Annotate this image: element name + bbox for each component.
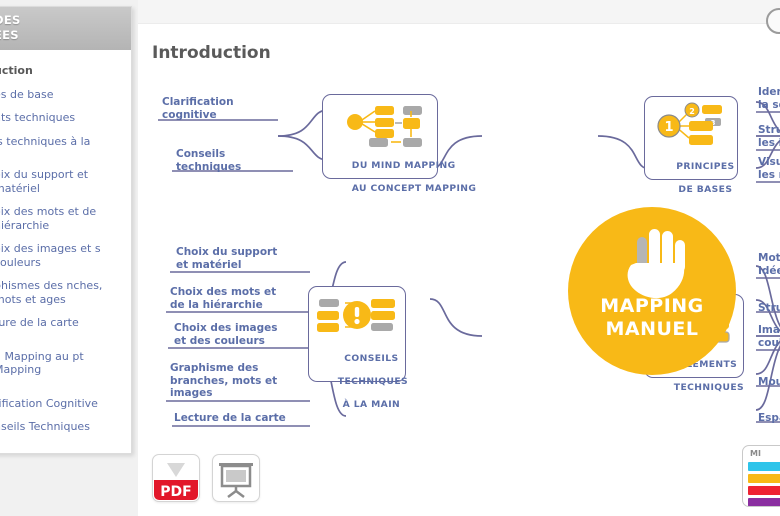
leaf-image-couleur[interactable]: Image couleur [758,324,780,349]
sidebar-panel: DES ÉES uction es de base nts techniques… [0,6,132,454]
leaf-graphisme[interactable]: Graphisme des branches, mots et images [170,362,277,400]
sidebar-item-2[interactable]: nts techniques [0,106,131,130]
bottom-toolbar: PDF [152,454,260,502]
color-bar-3 [748,486,780,495]
sidebar-item-8[interactable]: ture de la carte [0,311,131,335]
sidebar-divider-3 [0,382,131,392]
leaf-conseils-techniques[interactable]: Conseils techniques [176,148,241,173]
sidebar-item-6[interactable]: oix des images et s couleurs [0,237,131,274]
leaf-structure[interactable]: Structu [758,302,780,315]
node-title-conseils-techniques: CONSEILS TECHNIQUES À LA MAIN [309,341,405,422]
color-bar-4 [748,498,780,507]
presentation-icon [213,455,259,501]
leaf-choix-support[interactable]: Choix du support et matériel [176,246,277,271]
sidebar-item-7[interactable]: phismes des nches, mots et ages [0,274,131,311]
leaf-identifier-source[interactable]: Identifie la source [758,86,780,111]
sidebar-item-9[interactable]: d Mapping au pt Mapping [0,345,131,382]
svg-text:1: 1 [664,120,673,135]
numbered-map-icon: 1 2 3 [645,102,737,150]
main-content: Introduction [138,0,780,516]
leaf-mouvement[interactable]: Mouver [758,376,780,389]
sidebar-item-3[interactable]: ls techniques à la [0,130,131,154]
sidebar-item-introduction[interactable]: uction [0,59,131,83]
center-node-mapping-manuel[interactable]: MAPPING MANUEL [568,207,736,375]
page-title: Introduction [152,43,271,63]
concept-map-icon [323,99,437,149]
pdf-icon: PDF [153,455,199,501]
sidebar-item-1[interactable]: es de base [0,83,131,107]
sidebar-divider-2 [0,335,131,345]
sidebar-item-10[interactable]: rification Cognitive [0,392,131,416]
leaf-mots-cles[interactable]: Mots-cl Idées-c [758,252,780,277]
center-node-title: MAPPING MANUEL [568,295,736,341]
leaf-clarification-cognitive[interactable]: Clarification cognitive [162,96,234,121]
sidebar-header: DES ÉES [0,7,131,50]
node-title-du-mind-mapping: DU MIND MAPPING AU CONCEPT MAPPING [323,148,437,206]
sidebar-list: uction es de base nts techniques ls tech… [0,50,131,453]
leaf-espace[interactable]: Espace [758,412,780,425]
leaf-choix-images[interactable]: Choix des images et des couleurs [174,322,277,347]
mindmap-canvas: Clarification cognitive Conseils techniq… [138,74,780,516]
sidebar: DES ÉES uction es de base nts techniques… [0,0,138,516]
leaf-visualiser-resultats[interactable]: Visualise les résul [758,156,780,181]
right-tool-label: MI [743,446,780,459]
node-principes-de-bases[interactable]: 1 2 3 PRINCIPES DE BASES [644,96,738,180]
svg-text:PDF: PDF [160,484,191,500]
node-du-mind-mapping[interactable]: DU MIND MAPPING AU CONCEPT MAPPING [322,94,438,179]
sidebar-header-line1: DES [0,13,123,28]
sidebar-item-5[interactable]: oix des mots et de hiérarchie [0,200,131,237]
svg-text:2: 2 [689,107,695,116]
leaf-choix-mots[interactable]: Choix des mots et de la hiérarchie [170,286,276,311]
color-bar-2 [748,474,780,483]
sidebar-header-line2: ÉES [0,28,123,43]
color-bar-1 [748,462,780,471]
exclamation-map-icon [309,293,405,339]
sidebar-divider-1 [0,153,131,163]
sidebar-item-4[interactable]: oix du support et matériel [0,163,131,200]
node-conseils-techniques[interactable]: CONSEILS TECHNIQUES À LA MAIN [308,286,406,382]
top-bar [138,0,780,24]
leaf-structurer-idees[interactable]: Structur les idées [758,124,780,149]
mindmap-export-button[interactable]: MI [742,445,780,507]
leaf-lecture-carte[interactable]: Lecture de la carte [174,412,286,425]
sidebar-item-11[interactable]: nseils Techniques [0,415,131,439]
download-pdf-button[interactable]: PDF [152,454,200,502]
node-title-principes-de-bases: PRINCIPES DE BASES [645,149,737,207]
circle-badge-icon[interactable] [766,8,780,34]
slideshow-button[interactable] [212,454,260,502]
